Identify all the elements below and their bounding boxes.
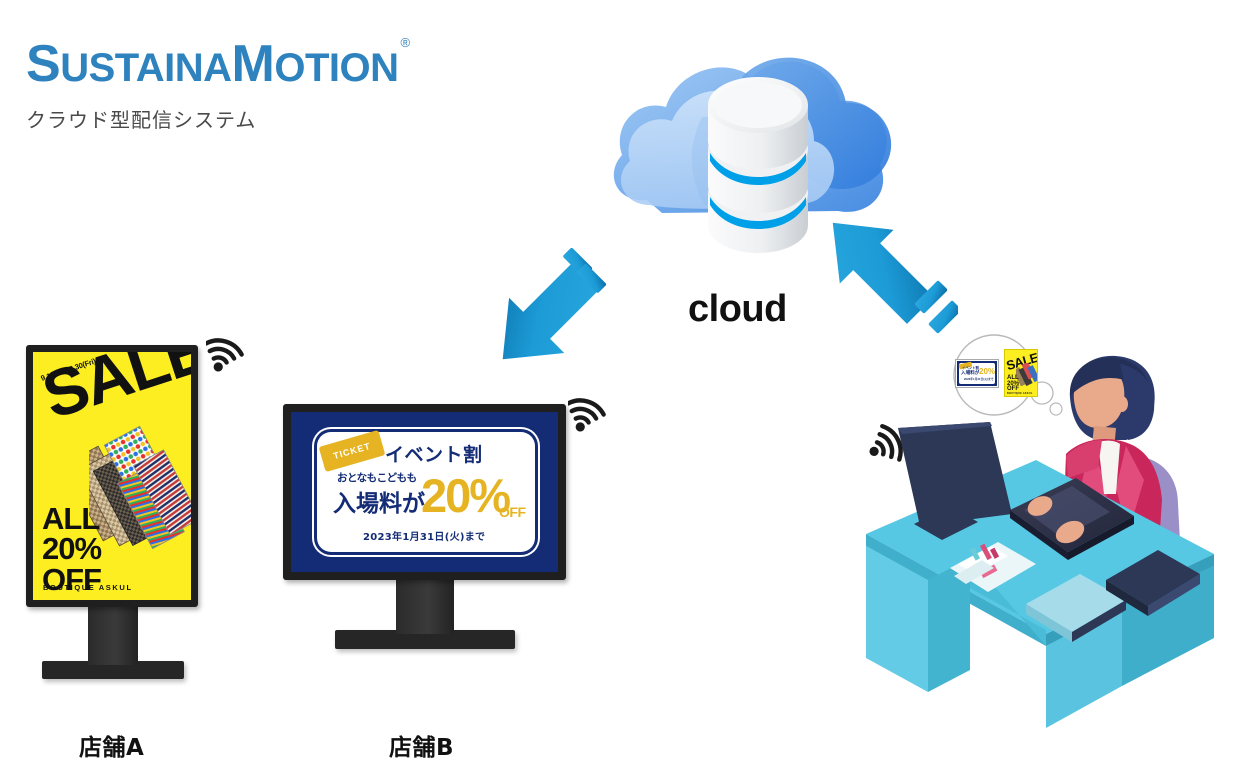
- signage-b-subtitle: おとなもこどもも: [337, 470, 417, 485]
- store-label-a: 店舗A: [79, 728, 144, 762]
- brand-tagline: クラウド型配信システム: [26, 104, 546, 133]
- shopping-bags-svg: [89, 424, 191, 552]
- signage-a-frame: 9.1(Thu)-9.30(Fri) SALE: [26, 345, 198, 607]
- signage-a-brand-footer: BOUTIQUE ASKUL: [43, 583, 133, 592]
- brand-wordmark: SUSTAINAMOTION®: [26, 38, 546, 90]
- wordmark-part-3: M: [232, 35, 275, 93]
- signage-a-offer: ALL 20% OFF: [42, 504, 101, 595]
- wifi-arcs-svg: [206, 330, 252, 376]
- brand-logo: SUSTAINAMOTION® クラウド型配信システム: [26, 38, 546, 133]
- registered-trademark-icon: ®: [401, 36, 410, 49]
- signage-b-off-label: OFF: [499, 504, 526, 520]
- signage-b-screen: TICKET イベント割 おとなもこどもも 入場料が 20% OFF 2023年…: [291, 412, 558, 572]
- wifi-arcs-svg: [568, 390, 614, 436]
- wifi-signal-icon-store-a: [206, 330, 252, 376]
- ticket-badge-icon: TICKET: [319, 430, 386, 472]
- signage-a-post: [88, 607, 138, 665]
- signage-b-post: [396, 580, 454, 634]
- signage-b-panel: TICKET イベント割 おとなもこどもも 入場料が 20% OFF 2023年…: [317, 432, 535, 552]
- signage-a-screen: 9.1(Thu)-9.30(Fri) SALE: [33, 352, 191, 600]
- diagram-canvas: SUSTAINAMOTION® クラウド型配信システム: [0, 0, 1242, 768]
- signage-b-percent: 20%: [421, 472, 509, 519]
- signage-a-offer-line1: ALL: [42, 504, 101, 534]
- wordmark-part-4: OTION: [274, 46, 398, 90]
- store-label-b: 店舗B: [389, 728, 454, 762]
- signage-b-frame: TICKET イベント割 おとなもこどもも 入場料が 20% OFF 2023年…: [283, 404, 566, 580]
- arrow-cloud-to-stores-icon: [478, 248, 608, 390]
- signage-b-main-text: 入場料が: [333, 484, 425, 518]
- wordmark-part-1: S: [26, 35, 60, 93]
- shopping-bags-illustration: [89, 424, 191, 552]
- workstation-illustration: [858, 328, 1242, 728]
- signage-a-headline: SALE: [35, 352, 191, 429]
- signage-a-offer-line2: 20%: [42, 534, 101, 564]
- wordmark-part-2: USTAINA: [60, 46, 231, 90]
- digital-signage-store-b[interactable]: TICKET イベント割 おとなもこどもも 入場料が 20% OFF 2023年…: [283, 404, 573, 654]
- signage-b-date: 2023年1月31日(火)まで: [363, 528, 485, 543]
- cloud-label: cloud: [688, 288, 787, 331]
- signage-b-title: イベント割: [385, 440, 483, 467]
- digital-signage-store-a[interactable]: 9.1(Thu)-9.30(Fri) SALE: [26, 345, 204, 645]
- workstation-svg: [858, 328, 1242, 728]
- arrow-down-left-svg: [478, 248, 608, 390]
- wifi-signal-icon-store-b: [568, 390, 614, 436]
